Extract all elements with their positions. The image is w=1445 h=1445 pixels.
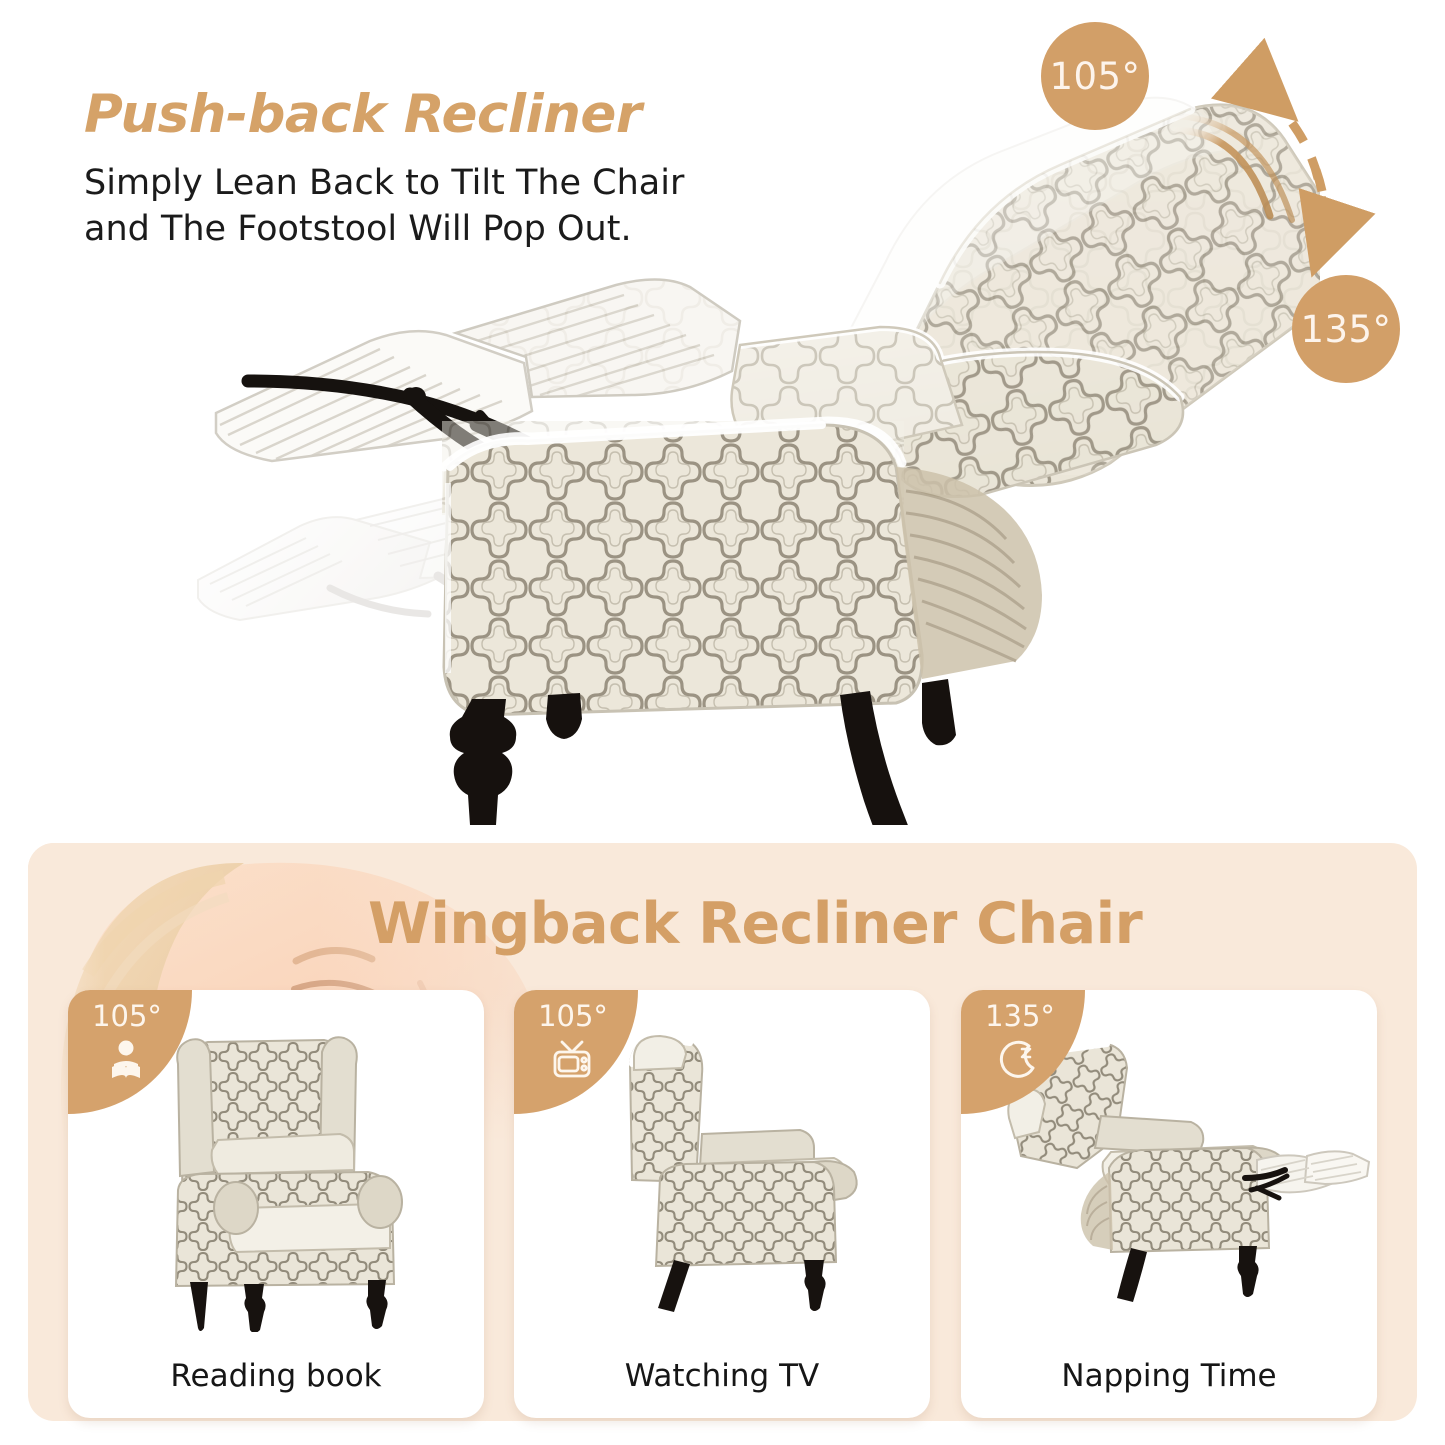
card-angle-value: 105°	[92, 1002, 162, 1031]
feature-card-napping-time[interactable]: 135° Napping Time	[961, 990, 1377, 1418]
angle-badge-135: 135°	[1292, 275, 1400, 383]
angle-badge-105: 105°	[1041, 22, 1149, 130]
card-label-napping: Napping Time	[961, 1358, 1377, 1394]
person-reading-icon	[104, 1038, 148, 1082]
card-label-tv: Watching TV	[514, 1358, 930, 1394]
section-title: Wingback Recliner Chair	[368, 891, 1268, 957]
card-label-reading: Reading book	[68, 1358, 484, 1394]
angle-badge-135-value: 135°	[1300, 308, 1391, 351]
feature-card-watching-tv[interactable]: 105° Watching TV	[514, 990, 930, 1418]
angle-badge-105-value: 105°	[1049, 55, 1140, 98]
card-angle-value: 135°	[985, 1002, 1055, 1031]
card-angle-value: 105°	[538, 1002, 608, 1031]
moon-zzz-icon	[997, 1038, 1041, 1082]
feature-card-reading-book[interactable]: 105° Reading book	[68, 990, 484, 1418]
reclined-wingback-chair-illustration	[180, 95, 1320, 825]
push-back-recliner-section: Push-back Recliner Simply Lean Back to T…	[0, 0, 1445, 840]
tv-icon	[550, 1038, 594, 1082]
